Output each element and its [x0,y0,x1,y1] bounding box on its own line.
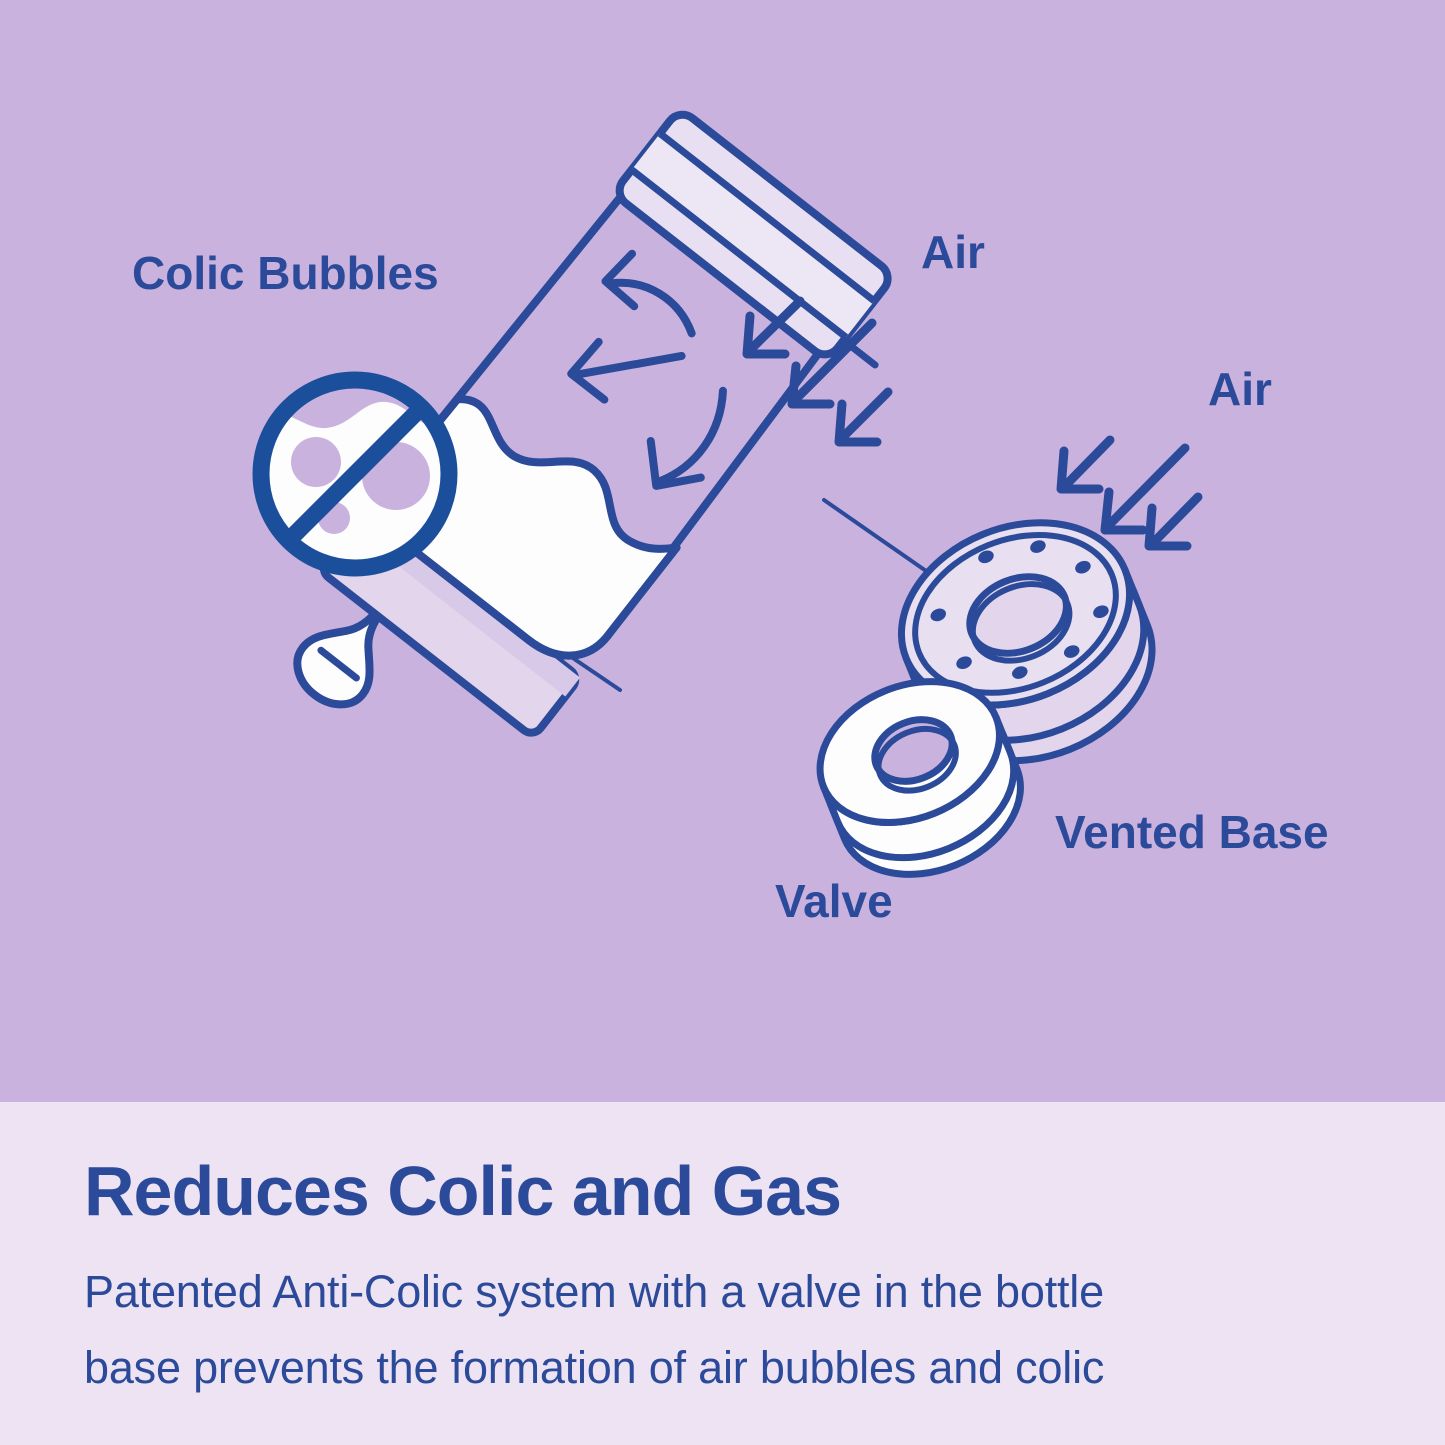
bubble-medium [291,437,341,487]
page-title: Reduces Colic and Gas [84,1156,841,1226]
description-line-1: Patented Anti-Colic system with a valve … [84,1266,1104,1318]
label-air-right: Air [1208,363,1272,415]
illustration-panel: Colic Bubbles Air Air Valve Vented Base [0,0,1445,1102]
label-air-top: Air [921,226,985,278]
text-panel: Reduces Colic and Gas Patented Anti-Coli… [0,1102,1445,1445]
anti-colic-diagram: Colic Bubbles Air Air Valve Vented Base [0,0,1445,1102]
label-colic-bubbles: Colic Bubbles [132,247,439,299]
description-line-2: base prevents the formation of air bubbl… [84,1342,1104,1394]
label-valve: Valve [775,875,893,927]
label-vented-base: Vented Base [1055,806,1329,858]
product-feature-card: Colic Bubbles Air Air Valve Vented Base … [0,0,1445,1445]
